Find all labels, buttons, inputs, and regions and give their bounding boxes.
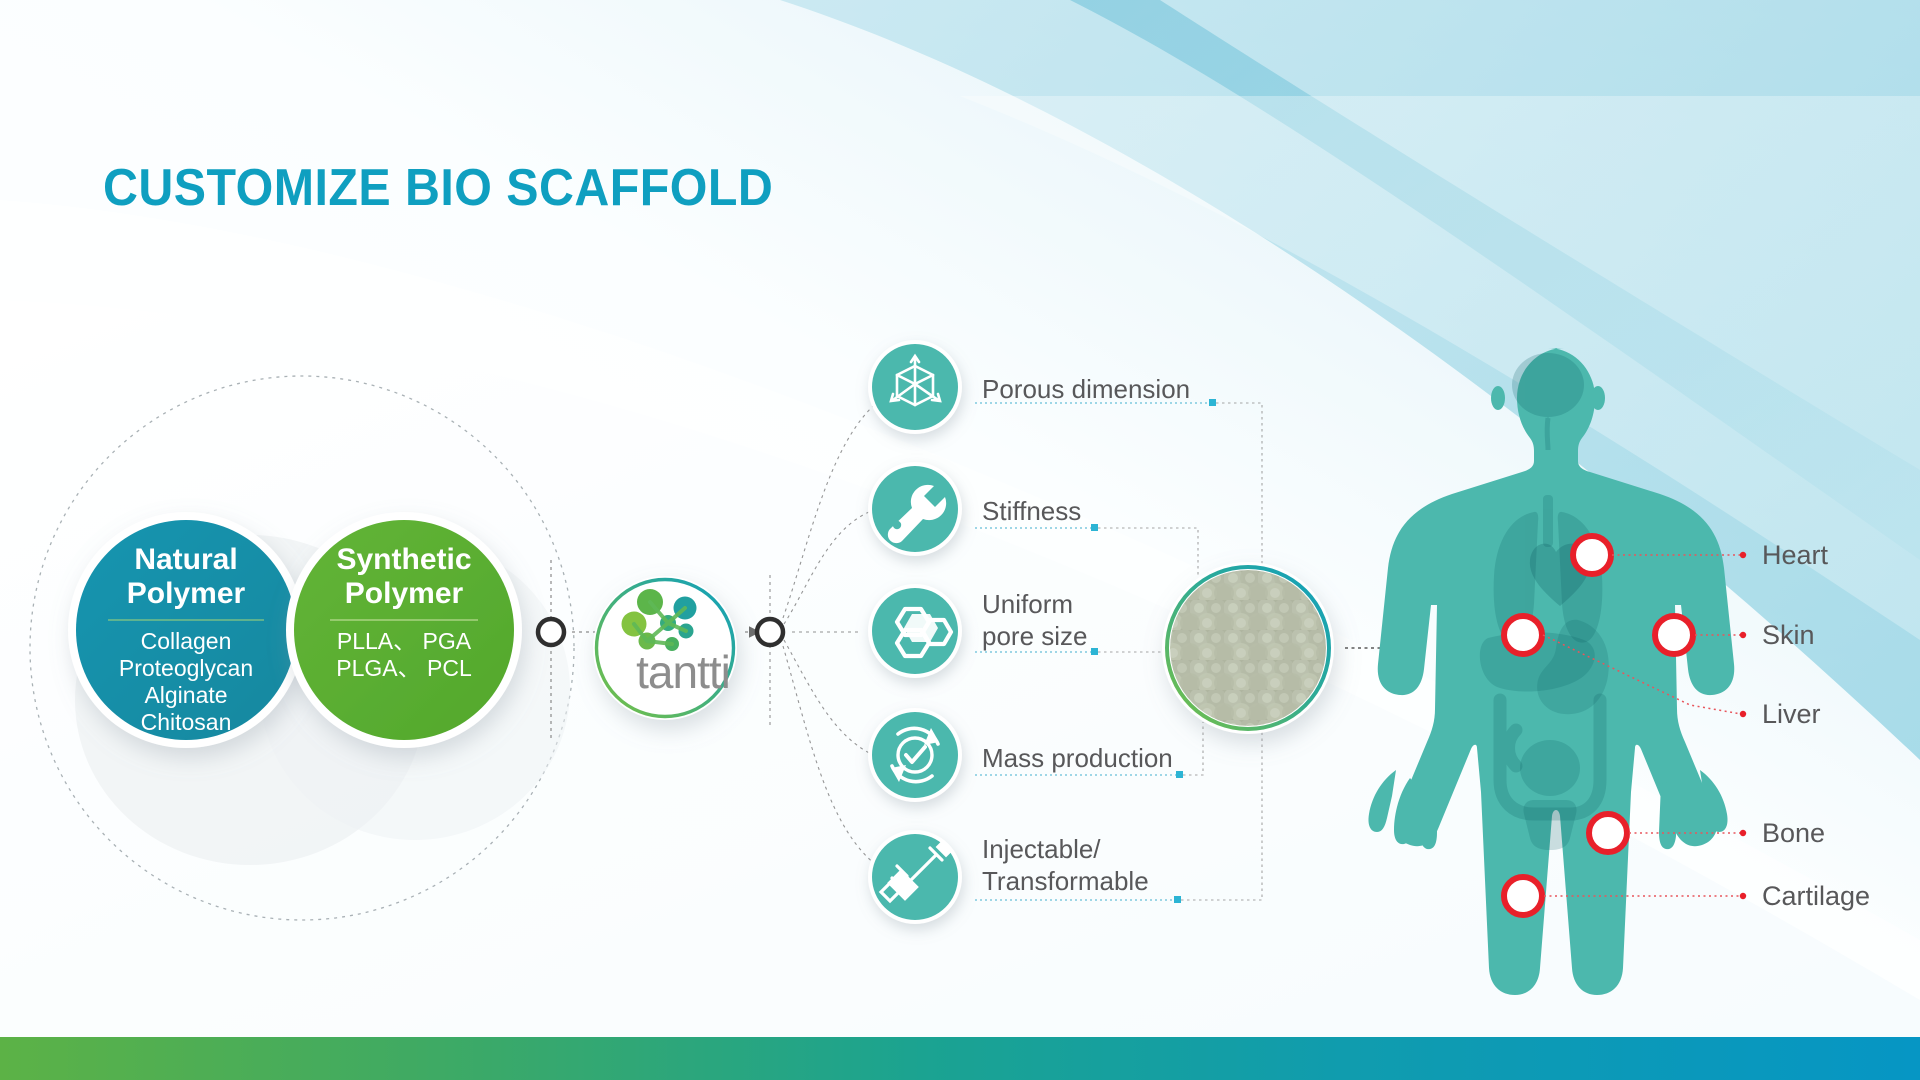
feature-label-mass-production: Mass production — [982, 742, 1173, 774]
synthetic-polymer-heading: Synthetic Polymer — [294, 543, 514, 611]
feature-label-stiffness: Stiffness — [982, 495, 1081, 527]
marker-skin — [1655, 616, 1693, 654]
slide-canvas: CUSTOMIZE BIO SCAFFOLD — [0, 0, 1920, 1080]
organ-label-heart: Heart — [1762, 540, 1828, 571]
human-body-silhouette — [1368, 348, 1734, 995]
footer-gradient-bar — [0, 1037, 1920, 1080]
synthetic-polymer-list: PLLA、 PGA PLGA、 PCL — [294, 628, 514, 682]
organ-label-bone: Bone — [1762, 818, 1825, 849]
porous-scaffold-sample — [1162, 562, 1334, 734]
page-title: CUSTOMIZE BIO SCAFFOLD — [103, 158, 773, 218]
feature-icon-mass-production — [868, 708, 962, 802]
feature-label-line1: Injectable/ — [982, 833, 1149, 865]
feature-label-line2: Transformable — [982, 865, 1149, 897]
feature-label-injectable: Injectable/ Transformable — [982, 833, 1149, 897]
leader-endpoints — [1740, 552, 1746, 899]
list-item: PLLA、 PGA — [294, 628, 514, 655]
organ-label-liver: Liver — [1762, 699, 1821, 730]
natural-polymer-heading: Natural Polymer — [76, 543, 296, 611]
connector-node-2 — [757, 619, 783, 645]
organ-small-intestine — [1520, 740, 1580, 796]
synthetic-heading-line1: Synthetic — [294, 543, 514, 577]
natural-heading-line2: Polymer — [76, 577, 296, 611]
marker-cartilage — [1504, 877, 1542, 915]
list-item: Proteoglycan — [76, 655, 296, 682]
feature-label-uniform-pore-size: Uniform pore size — [982, 588, 1088, 652]
list-item: Chitosan — [76, 709, 296, 736]
natural-heading-line1: Natural — [76, 543, 296, 577]
feature-label-porous-dimension: Porous dimension — [982, 373, 1190, 405]
marker-heart — [1573, 536, 1611, 574]
marker-liver — [1504, 616, 1542, 654]
marker-bone — [1589, 814, 1627, 852]
natural-polymer-list: Collagen Proteoglycan Alginate Chitosan — [76, 628, 296, 736]
list-item: Alginate — [76, 682, 296, 709]
tantti-wordmark: tantti — [613, 645, 753, 699]
organ-label-skin: Skin — [1762, 620, 1815, 651]
list-item: Collagen — [76, 628, 296, 655]
feature-label-line1: Uniform — [982, 588, 1088, 620]
organ-label-cartilage: Cartilage — [1762, 881, 1870, 912]
synthetic-heading-line2: Polymer — [294, 577, 514, 611]
connector-node-1 — [538, 619, 564, 645]
list-item: PLGA、 PCL — [294, 655, 514, 682]
feature-label-line2: pore size — [982, 620, 1088, 652]
